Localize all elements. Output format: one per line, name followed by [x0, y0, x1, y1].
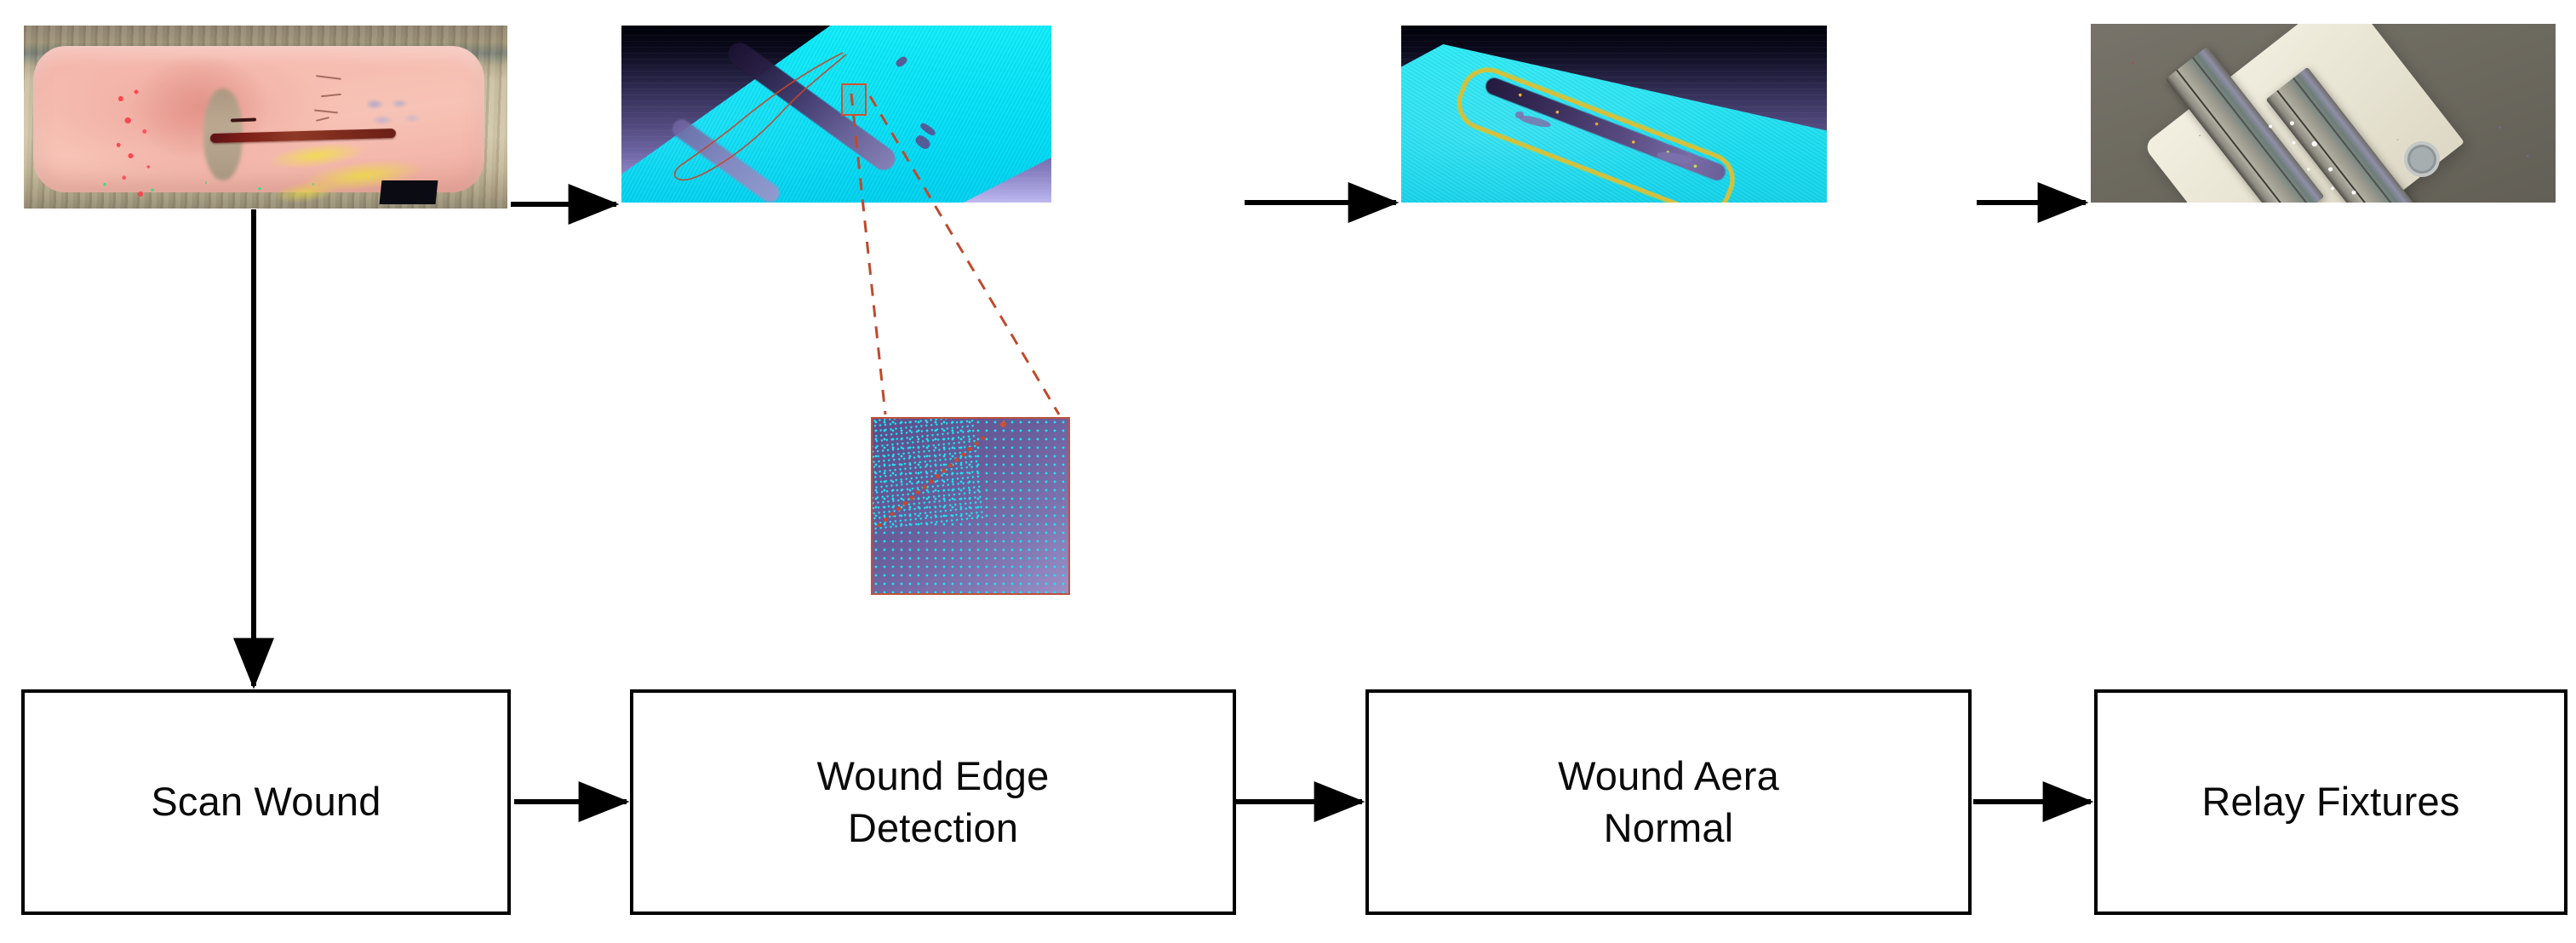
diagram-canvas: Scan Wound Wound Edge Detection Wound Ae…	[0, 0, 2576, 943]
process-box-label: Wound Aera Normal	[1549, 751, 1788, 853]
scratch-mark	[316, 117, 329, 122]
process-box-wound-edge-detection[interactable]: Wound Edge Detection	[630, 689, 1236, 915]
silicone-wound-pad	[33, 46, 484, 192]
point-cloud-photo	[621, 26, 1051, 203]
edge-point-marker	[1000, 421, 1006, 427]
scan-wound-photo	[24, 26, 507, 209]
small-wound-slit	[231, 117, 256, 122]
blue-marking	[367, 99, 430, 126]
black-calibration-marker	[380, 180, 438, 204]
process-box-label: Scan Wound	[142, 776, 389, 827]
process-box-label: Wound Edge Detection	[809, 751, 1058, 853]
dense-point-grid	[871, 417, 985, 530]
scratch-mark	[314, 110, 338, 114]
scratch-mark	[321, 94, 341, 97]
process-box-label: Relay Fixtures	[2193, 776, 2468, 827]
process-box-scan-wound[interactable]: Scan Wound	[21, 689, 511, 915]
scratch-mark	[316, 75, 341, 80]
noise-speck	[1515, 111, 1524, 118]
roi-zoom-inset	[871, 417, 1070, 595]
process-box-relay-fixtures[interactable]: Relay Fixtures	[2094, 689, 2567, 915]
green-fleck-noise	[75, 177, 373, 196]
relay-fixtures-photo	[2091, 24, 2556, 203]
roi-box	[841, 83, 867, 116]
process-box-wound-aera-normal[interactable]: Wound Aera Normal	[1365, 689, 1972, 915]
wound-contour-photo	[1401, 26, 1827, 203]
